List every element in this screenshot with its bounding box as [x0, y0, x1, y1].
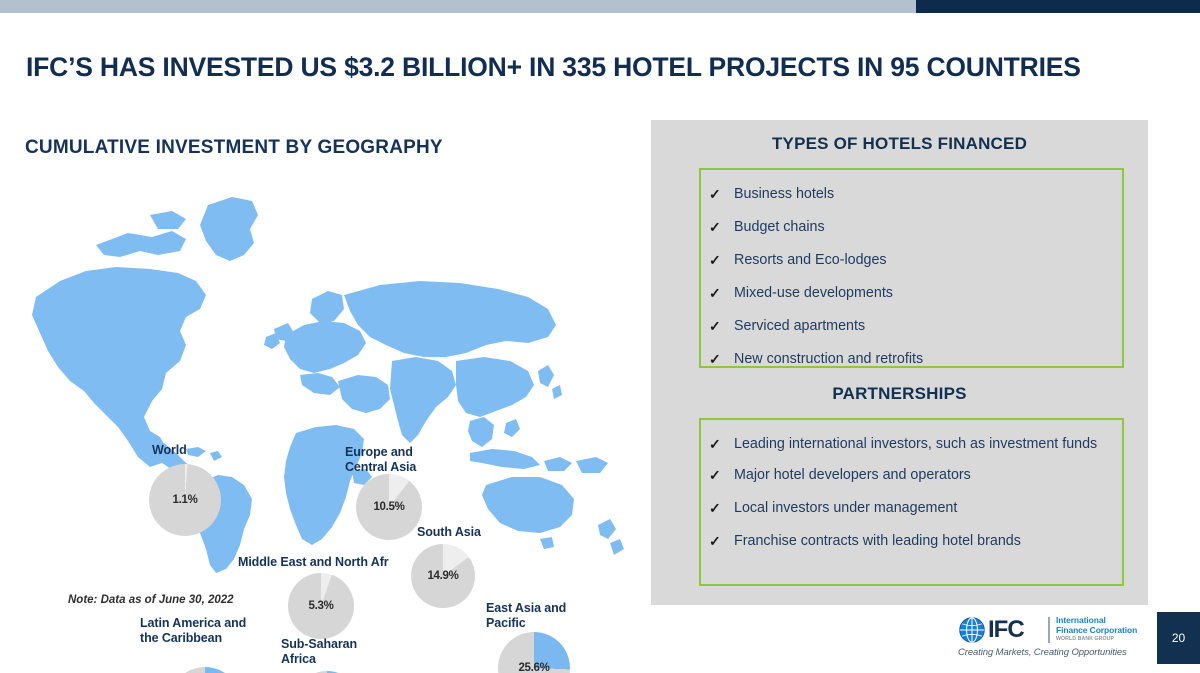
check-icon: ✓ — [709, 184, 721, 205]
geo-label-south-asia: South Asia — [417, 525, 481, 540]
ifc-wordmark: IFC — [988, 616, 1024, 644]
pie-chart-middle-east-and-north-africa: 5.3% — [288, 573, 354, 639]
data-source-note: Note: Data as of June 30, 2022 — [68, 594, 234, 606]
pie-chart-world: 1.1% — [149, 464, 221, 536]
partnerships-panel-title: PARTNERSHIPS — [651, 384, 1148, 404]
check-icon: ✓ — [709, 498, 721, 519]
list-item: ✓Business hotels — [701, 184, 1112, 205]
ifc-logo: IFC International Finance Corporation WO… — [958, 614, 1148, 658]
list-item: ✓Local investors under management — [701, 498, 1106, 519]
right-info-panel: TYPES OF HOTELS FINANCED ✓Business hotel… — [651, 120, 1148, 605]
geo-label-sub-saharan-africa: Sub-Saharan Africa — [281, 637, 357, 667]
list-item: ✓New construction and retrofits — [701, 349, 1112, 370]
ifc-fullname-line3: WORLD BANK GROUP — [1056, 635, 1137, 643]
geo-label-east-asia-and-pacific: East Asia and Pacific — [486, 601, 566, 631]
list-item-label: Local investors under management — [734, 500, 957, 516]
list-item-label: New construction and retrofits — [734, 351, 923, 367]
types-panel-title: TYPES OF HOTELS FINANCED — [651, 134, 1148, 154]
ifc-fullname: International Finance Corporation WORLD … — [1056, 616, 1137, 643]
slide-canvas: IFC’S HAS INVESTED US $3.2 BILLION+ IN 3… — [0, 0, 1200, 673]
list-item-label: Serviced apartments — [734, 318, 865, 334]
ifc-fullname-line2: Finance Corporation — [1056, 626, 1137, 636]
topbar-left-band — [0, 0, 916, 13]
types-green-box: ✓Business hotels✓Budget chains✓Resorts a… — [699, 168, 1124, 368]
world-map-svg — [0, 185, 640, 585]
page-title: IFC’S HAS INVESTED US $3.2 BILLION+ IN 3… — [26, 52, 1176, 83]
list-item-label: Business hotels — [734, 186, 834, 202]
list-item: ✓Serviced apartments — [701, 316, 1112, 337]
partnerships-green-box: ✓Leading international investors, such a… — [699, 418, 1124, 586]
page-number-badge: 20 — [1157, 612, 1200, 664]
list-item-label: Resorts and Eco-lodges — [734, 252, 887, 268]
check-icon: ✓ — [709, 250, 721, 271]
check-icon: ✓ — [709, 465, 721, 486]
list-item: ✓Franchise contracts with leading hotel … — [701, 531, 1106, 552]
geo-label-world: World — [152, 443, 187, 458]
world-map-chart — [0, 185, 640, 585]
partnerships-bullet-list: ✓Leading international investors, such a… — [701, 420, 1122, 552]
section-heading-geography: CUMULATIVE INVESTMENT BY GEOGRAPHY — [25, 137, 443, 159]
pie-value-label: 5.3% — [288, 600, 354, 612]
pie-value-label: 14.9% — [411, 570, 475, 582]
topbar-right-band — [916, 0, 1200, 13]
check-icon: ✓ — [709, 349, 721, 370]
list-item: ✓Resorts and Eco-lodges — [701, 250, 1112, 271]
check-icon: ✓ — [709, 217, 721, 238]
list-item-label: Major hotel developers and operators — [734, 467, 971, 483]
pie-chart-south-asia: 14.9% — [411, 544, 475, 608]
list-item-label: Budget chains — [734, 219, 825, 235]
logo-divider — [1048, 617, 1050, 643]
check-icon: ✓ — [709, 434, 721, 455]
list-item: ✓Budget chains — [701, 217, 1112, 238]
pie-value-label: 25.6% — [498, 662, 570, 673]
pie-chart-east-asia-and-pacific: 25.6% — [498, 632, 570, 673]
list-item: ✓Major hotel developers and operators — [701, 465, 1106, 486]
list-item: ✓Leading international investors, such a… — [701, 434, 1106, 455]
globe-icon — [958, 616, 986, 644]
ifc-tagline: Creating Markets, Creating Opportunities — [958, 647, 1127, 658]
list-item: ✓Mixed-use developments — [701, 283, 1112, 304]
pie-chart-europe-and-central-asia: 10.5% — [356, 474, 422, 540]
geo-label-latin-america-and-the-caribbean: Latin America and the Caribbean — [140, 616, 246, 646]
check-icon: ✓ — [709, 283, 721, 304]
check-icon: ✓ — [709, 316, 721, 337]
pie-value-label: 1.1% — [149, 494, 221, 506]
pie-value-label: 10.5% — [356, 501, 422, 513]
list-item-label: Franchise contracts with leading hotel b… — [734, 533, 1021, 549]
types-bullet-list: ✓Business hotels✓Budget chains✓Resorts a… — [701, 170, 1122, 370]
check-icon: ✓ — [709, 531, 721, 552]
list-item-label: Mixed-use developments — [734, 285, 893, 301]
list-item-label: Leading international investors, such as… — [734, 436, 1097, 452]
geo-label-middle-east-and-north-africa: Middle East and North Afr — [238, 555, 389, 570]
geo-label-europe-and-central-asia: Europe and Central Asia — [345, 445, 416, 475]
pie-chart-latin-america-and-the-caribbean: 23.2% — [169, 667, 241, 673]
